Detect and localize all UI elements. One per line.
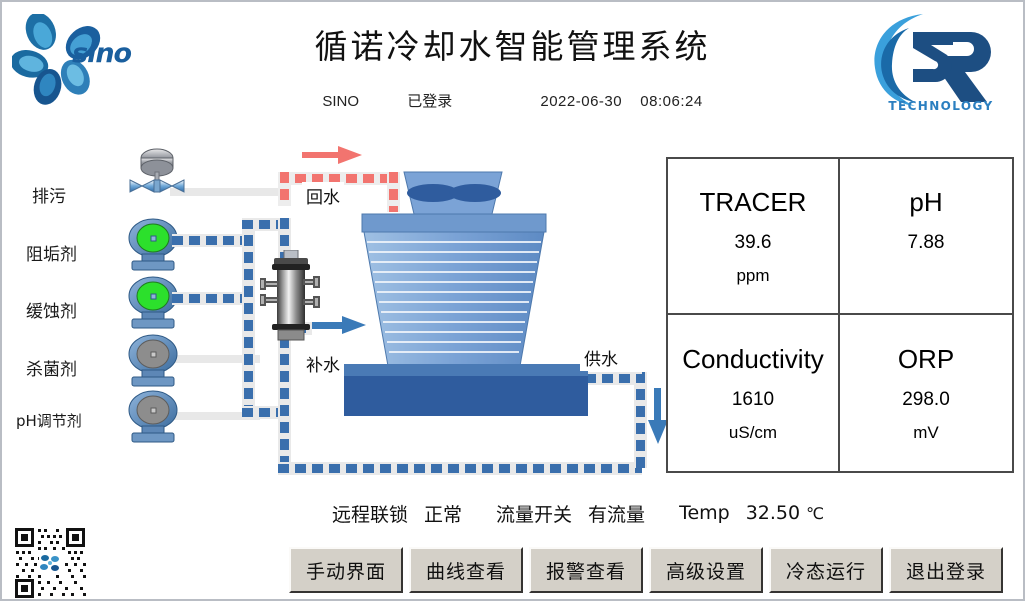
reading-ph: pH 7.88	[840, 159, 1012, 315]
qr-code	[12, 525, 88, 601]
feed-line-scale-inhibitor	[172, 234, 250, 247]
biocide-pump-icon[interactable]	[122, 334, 184, 390]
flow-switch-value: 有流量	[588, 500, 645, 527]
feed-header-vertical	[242, 218, 255, 414]
3r-technology-logo: TECHNOLOGY	[865, 6, 1017, 118]
reading-orp-name: ORP	[898, 344, 954, 375]
temp-label: Temp	[679, 502, 730, 524]
tag-makeup-water: 补水	[302, 350, 344, 377]
blowdown-valve-icon	[120, 148, 194, 200]
logout-button[interactable]: 退出登录	[889, 547, 1003, 593]
feed-line-corrosion-inhibitor	[172, 292, 250, 305]
label-scale-inhibitor: 阻垢剂	[26, 240, 77, 265]
reading-ph-name: pH	[909, 187, 942, 218]
ph-adjuster-pump-icon[interactable]	[122, 390, 184, 446]
reading-tracer: TRACER 39.6 ppm	[668, 159, 840, 315]
status-row: 远程联锁 正常 流量开关 有流量 Temp 32.50 ℃	[332, 496, 1022, 530]
curve-view-button[interactable]: 曲线查看	[409, 547, 523, 593]
loop-bottom-run	[278, 462, 642, 475]
label-corrosion-inhibitor: 缓蚀剂	[26, 297, 77, 322]
reading-tracer-value: 39.6	[735, 232, 772, 254]
header-bar: sino 循诺冷却水智能管理系统 SINO 已登录 2022-06-30 08:…	[2, 2, 1023, 122]
button-bar: 手动界面 曲线查看 报警查看 高级设置 冷态运行 退出登录	[289, 547, 1003, 595]
current-user: SINO	[322, 93, 359, 110]
reading-ph-value: 7.88	[908, 232, 945, 254]
cold-run-button[interactable]: 冷态运行	[769, 547, 883, 593]
return-flow-arrow-icon	[302, 144, 364, 166]
sensor-vessel-icon[interactable]	[260, 250, 322, 346]
qr-code-icon	[12, 525, 88, 601]
label-blowdown: 排污	[32, 182, 66, 207]
cooling-tower-icon	[342, 170, 602, 418]
reading-orp: ORP 298.0 mV	[840, 315, 1012, 471]
return-water-left-leg	[278, 172, 291, 206]
reading-conductivity: Conductivity 1610 uS/cm	[668, 315, 840, 471]
login-state: 已登录	[407, 90, 452, 111]
reading-orp-value: 298.0	[902, 389, 950, 411]
svg-text:TECHNOLOGY: TECHNOLOGY	[888, 99, 993, 113]
temp-value: 32.50	[746, 502, 800, 524]
remote-interlock-value: 正常	[424, 500, 462, 527]
tag-return-water: 回水	[302, 182, 344, 209]
flow-switch-label: 流量开关	[496, 500, 572, 527]
remote-interlock-label: 远程联锁	[332, 500, 408, 527]
alarm-view-button[interactable]: 报警查看	[529, 547, 643, 593]
label-ph-adjuster: pH调节剂	[16, 410, 82, 431]
system-time: 08:06:24	[640, 93, 702, 110]
scada-main-window: sino 循诺冷却水智能管理系统 SINO 已登录 2022-06-30 08:…	[0, 0, 1025, 601]
loop-right-downcomer	[634, 372, 647, 468]
label-biocide: 杀菌剂	[26, 355, 77, 380]
temp-unit: ℃	[806, 504, 824, 523]
advanced-settings-button[interactable]: 高级设置	[649, 547, 763, 593]
readings-panel: TRACER 39.6 ppm pH 7.88 Conductivity 161…	[666, 157, 1014, 473]
process-diagram: 排污 阻垢剂 缓蚀剂 杀菌剂 pH调节剂	[2, 122, 662, 482]
3r-logo-icon: TECHNOLOGY	[865, 6, 1017, 118]
reading-tracer-name: TRACER	[700, 187, 807, 218]
reading-tracer-unit: ppm	[736, 266, 769, 286]
reading-conductivity-value: 1610	[732, 389, 774, 411]
tag-supply-water: 供水	[580, 344, 622, 371]
manual-interface-button[interactable]: 手动界面	[289, 547, 403, 593]
reading-orp-unit: mV	[913, 423, 939, 443]
system-date: 2022-06-30	[540, 93, 622, 110]
reading-conductivity-unit: uS/cm	[729, 423, 777, 443]
reading-conductivity-name: Conductivity	[682, 344, 824, 375]
